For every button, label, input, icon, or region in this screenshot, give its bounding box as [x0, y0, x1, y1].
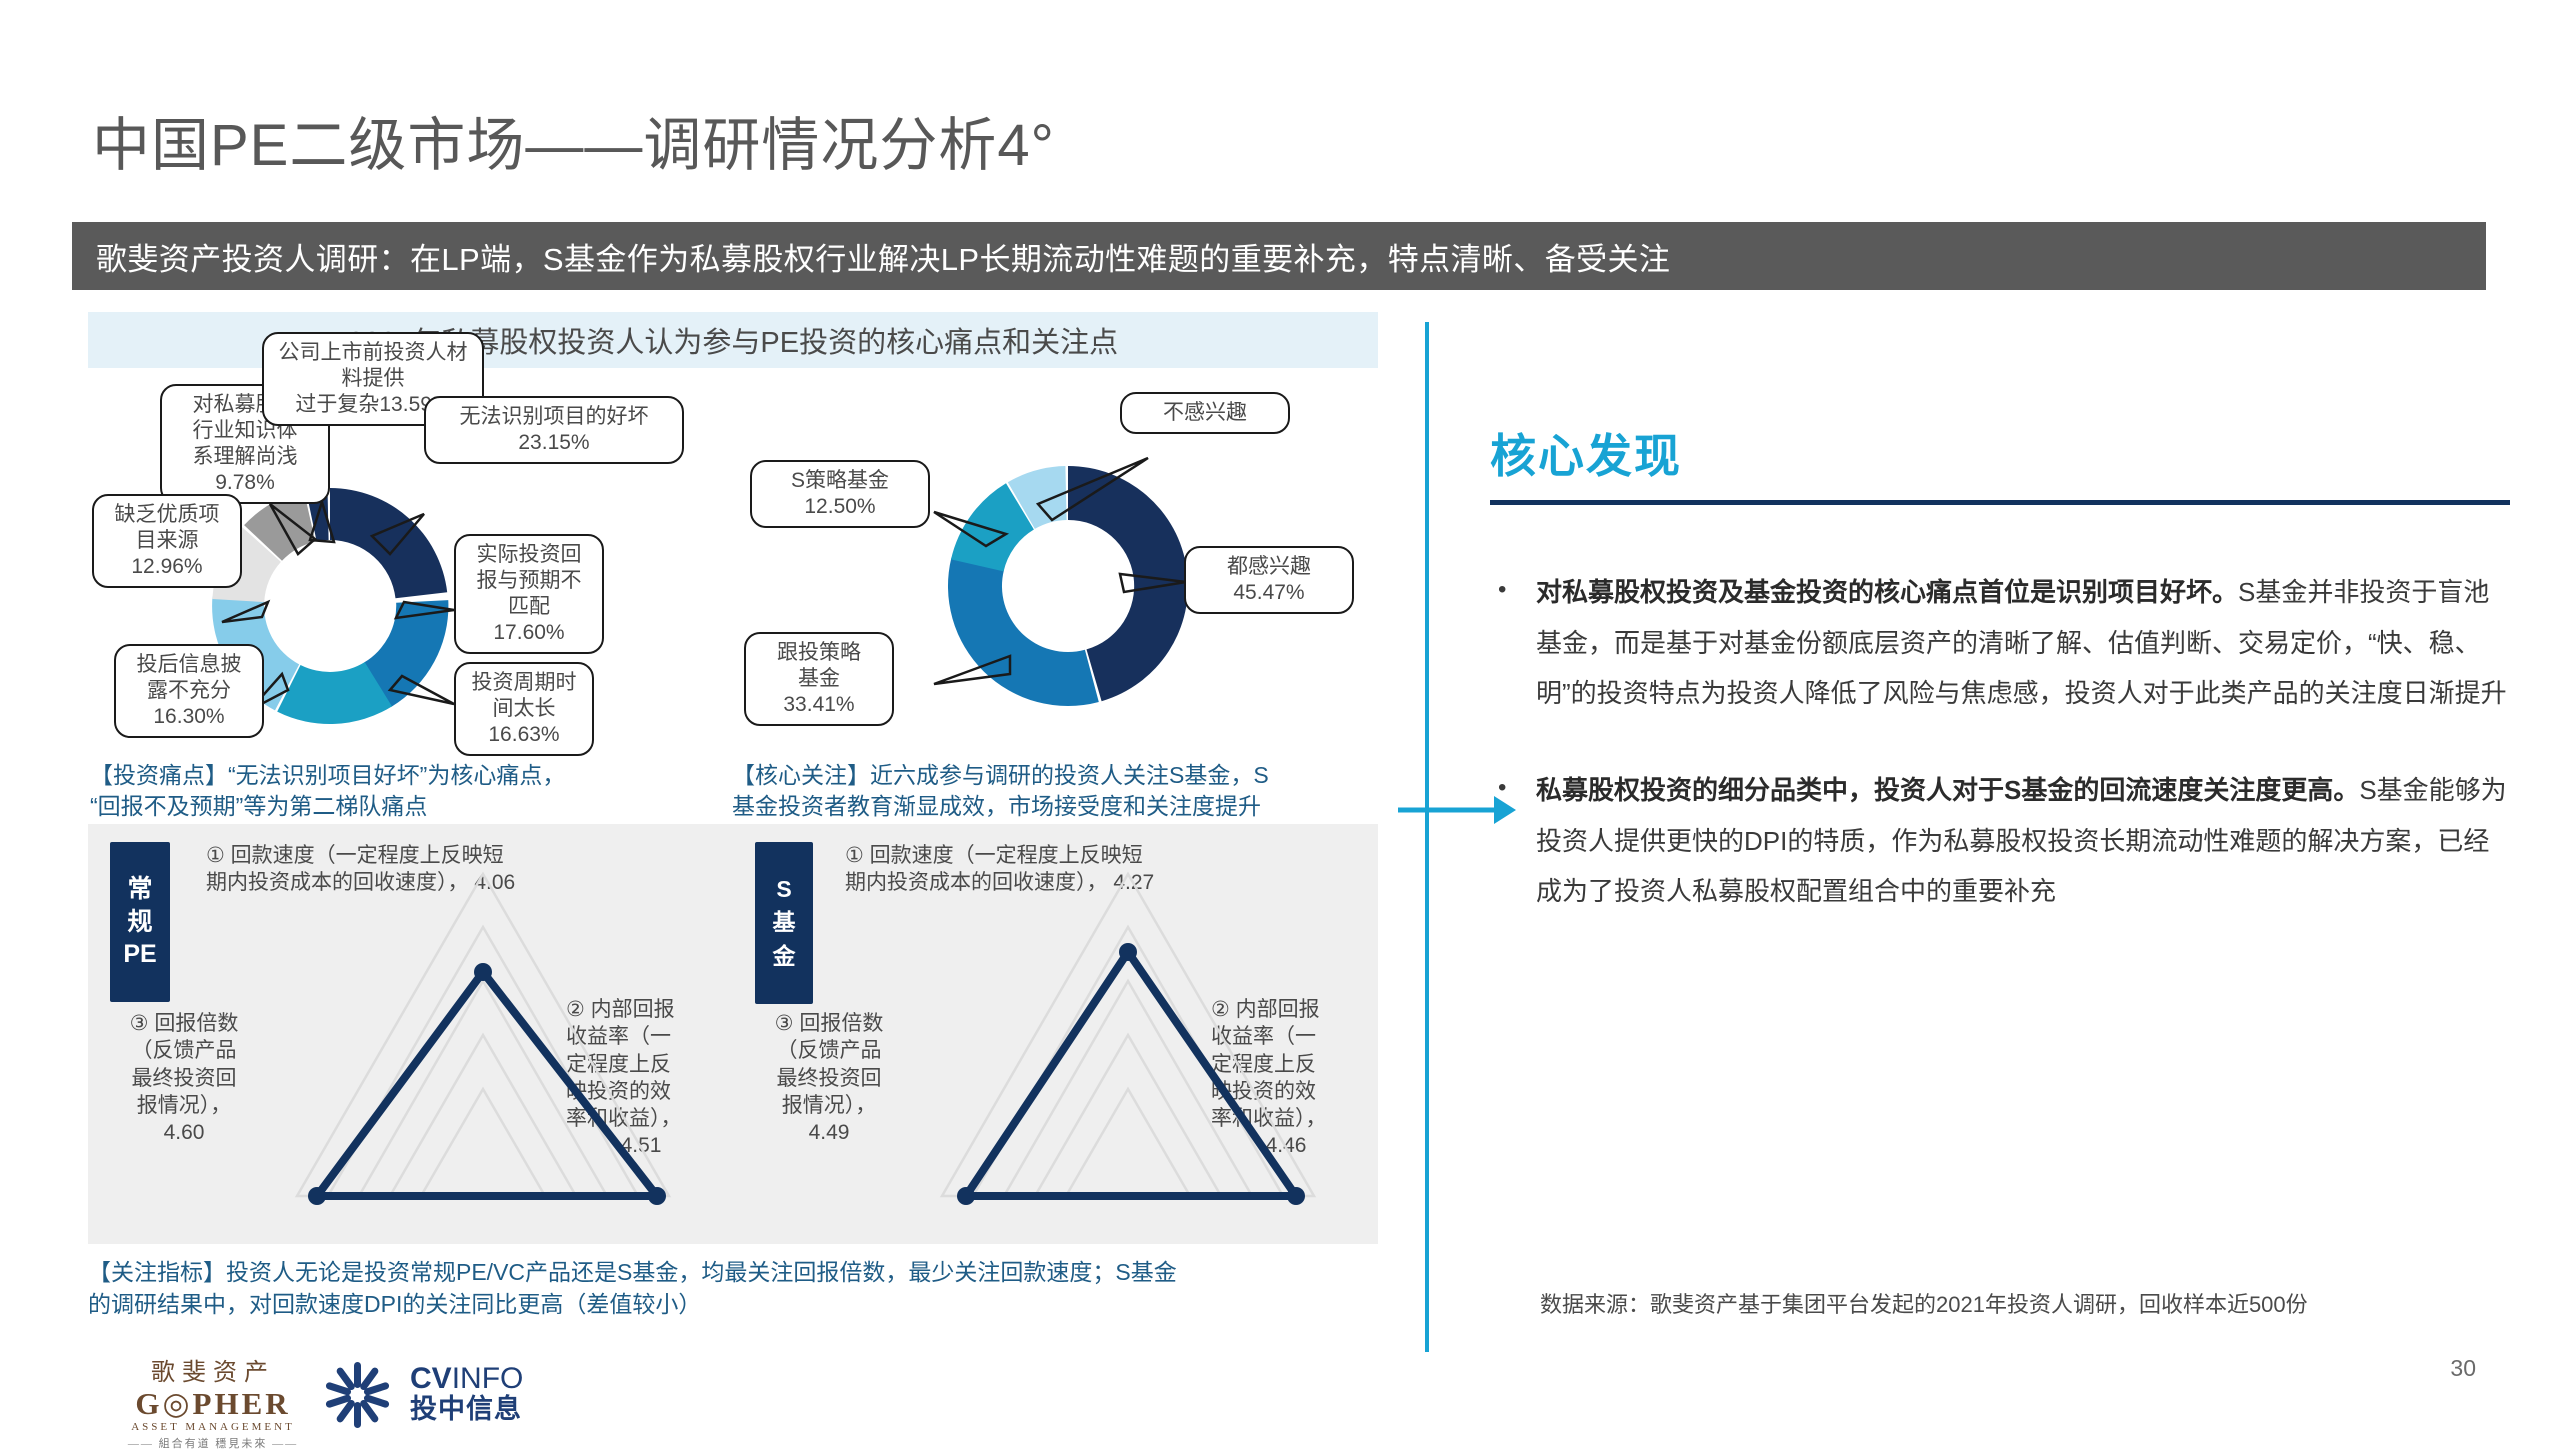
radar-tag-pe-char3: PE: [123, 938, 156, 971]
callout-pain-identify: 无法识别项目的好坏23.15%: [424, 396, 684, 464]
radar-s-axis3-value: 4.49: [809, 1121, 850, 1144]
radar-tag-conventional-pe: 常 规 PE: [110, 842, 170, 1002]
findings-title: 核心发现: [1490, 420, 2510, 486]
cvinfo-logo-cv: CV: [410, 1362, 452, 1395]
callout-not-interested: 不感兴趣: [1120, 392, 1290, 434]
radar-panel: 常 规 PE ① 回款速度（一定程度上反映短 期内投资成本的回收速度）， 4.0…: [88, 824, 1378, 1244]
caption-focus-line1: 【核心关注】近六成参与调研的投资人关注S基金，S: [732, 760, 1392, 791]
page-number: 30: [2450, 1355, 2476, 1382]
data-source-note: 数据来源：歌斐资产基于集团平台发起的2021年投资人调研，回收样本近500份: [1540, 1287, 2308, 1319]
callout-all-interested: 都感兴趣45.47%: [1184, 546, 1354, 614]
gopher-logo: 歌斐资产 G◎PHER ASSET MANAGEMENT —— 組合有道 穩見未…: [118, 1352, 308, 1451]
caption-focus-line2: 基金投资者教育渐显成效，市场接受度和关注度提升: [732, 791, 1392, 822]
cvinfo-logo-cn: 投中信息: [410, 1394, 523, 1425]
gopher-logo-cn: 歌斐资产: [118, 1352, 308, 1387]
bullet-marker-1: •: [1490, 567, 1536, 719]
gopher-logo-subtitle: ASSET MANAGEMENT: [118, 1421, 308, 1433]
callout-pain-source: 缺乏优质项目来源12.96%: [92, 494, 242, 588]
radar-chart-s-fund: S 基 金 ① 回款速度（一定程度上反映短 期内投资成本的回收速度）， 4.27…: [733, 824, 1378, 1244]
caption-metrics-line2: 的调研结果中，对回款速度DPI的关注同比更高（差值较小）: [88, 1288, 1388, 1320]
bullet-marker-2: •: [1490, 765, 1536, 917]
radar-tag-pe-char2: 规: [127, 906, 152, 939]
caption-core-focus: 【核心关注】近六成参与调研的投资人关注S基金，S 基金投资者教育渐显成效，市场接…: [732, 760, 1392, 822]
findings-bullet-2: • 私募股权投资的细分品类中，投资人对于S基金的回流速度关注度更高。S基金能够为…: [1490, 765, 2510, 917]
radar-tag-s-char3: 金: [773, 940, 796, 973]
caption-metrics: 【关注指标】投资人无论是投资常规PE/VC产品还是S基金，均最关注回报倍数，最少…: [88, 1256, 1388, 1320]
vertical-divider: [1425, 322, 1429, 1352]
caption-metrics-line1: 【关注指标】投资人无论是投资常规PE/VC产品还是S基金，均最关注回报倍数，最少…: [88, 1256, 1388, 1288]
caption-pain-points: 【投资痛点】“无法识别项目好坏”为核心痛点， “回报不及预期”等为第二梯队痛点: [90, 760, 730, 822]
right-column: 核心发现 • 对私募股权投资及基金投资的核心痛点首位是识别项目好坏。S基金并非投…: [1490, 420, 2510, 963]
cvinfo-logo-info: INFO: [452, 1362, 524, 1395]
radar-s-plot: [913, 844, 1343, 1224]
callout-pain-duration: 投资周期时间太长16.63%: [454, 662, 594, 756]
cvinfo-burst-icon: [318, 1358, 396, 1432]
bullet-body-2: 私募股权投资的细分品类中，投资人对于S基金的回流速度关注度更高。S基金能够为投资…: [1536, 765, 2510, 917]
findings-bullet-1: • 对私募股权投资及基金投资的核心痛点首位是识别项目好坏。S基金并非投资于盲池基…: [1490, 567, 2510, 719]
caption-pain-line1: 【投资痛点】“无法识别项目好坏”为核心痛点，: [90, 760, 730, 791]
findings-divider: [1490, 500, 2510, 505]
header-banner: 歌斐资产投资人调研：在LP端，S基金作为私募股权行业解决LP长期流动性难题的重要…: [72, 222, 2486, 290]
radar-s-axis3-label: ③ 回报倍数（反馈产品最终投资回报情况）， 4.49: [749, 1010, 909, 1146]
radar-tag-s-char2: 基: [773, 906, 796, 939]
donut-charts-area: 对私募股权行业知识体系理解尚浅9.78% 公司上市前投资人材料提供过于复杂13.…: [72, 374, 1392, 774]
radar-tag-s-fund: S 基 金: [755, 842, 813, 1004]
bullet-bold-1: 对私募股权投资及基金投资的核心痛点首位是识别项目好坏。: [1536, 577, 2238, 607]
radar-chart-conventional-pe: 常 规 PE ① 回款速度（一定程度上反映短 期内投资成本的回收速度）， 4.0…: [88, 824, 733, 1244]
callout-pain-disclosure: 投后信息披露不充分16.30%: [114, 644, 264, 738]
header-banner-text: 歌斐资产投资人调研：在LP端，S基金作为私募股权行业解决LP长期流动性难题的重要…: [72, 234, 1670, 279]
callout-coinvest-fund: 跟投策略基金33.41%: [744, 632, 894, 726]
cvinfo-logo: CVINFO 投中信息: [318, 1358, 523, 1432]
radar-tag-s-char1: S: [776, 873, 791, 906]
radar-pe-axis3-label: ③ 回报倍数（反馈产品最终投资回报情况）， 4.60: [104, 1010, 264, 1146]
radar-pe-axis3-value: 4.60: [164, 1121, 205, 1144]
callout-pain-return: 实际投资回报与预期不匹配17.60%: [454, 534, 604, 654]
cvinfo-logo-text: CVINFO 投中信息: [410, 1364, 523, 1425]
left-column: 2021年私募股权投资人认为参与PE投资的核心痛点和关注点: [72, 312, 1392, 1312]
page-title: 中国PE二级市场——调研情况分析4°: [92, 98, 1055, 182]
radar-tag-pe-char1: 常: [127, 873, 152, 906]
callout-s-strategy-fund: S策略基金12.50%: [750, 460, 930, 528]
findings-bullet-list: • 对私募股权投资及基金投资的核心痛点首位是识别项目好坏。S基金并非投资于盲池基…: [1490, 567, 2510, 917]
bullet-body-1: 对私募股权投资及基金投资的核心痛点首位是识别项目好坏。S基金并非投资于盲池基金，…: [1536, 567, 2510, 719]
bullet-bold-2: 私募股权投资的细分品类中，投资人对于S基金的回流速度关注度更高。: [1536, 775, 2359, 805]
gopher-logo-en: G◎PHER: [118, 1387, 308, 1421]
slide: 中国PE二级市场——调研情况分析4° 歌斐资产投资人调研：在LP端，S基金作为私…: [0, 0, 2560, 1440]
gopher-logo-tagline: —— 組合有道 穩見未來 ——: [118, 1435, 308, 1451]
radar-pe-plot: [268, 844, 698, 1224]
caption-pain-line2: “回报不及预期”等为第二梯队痛点: [90, 791, 730, 822]
cvinfo-logo-en: CVINFO: [410, 1364, 523, 1394]
